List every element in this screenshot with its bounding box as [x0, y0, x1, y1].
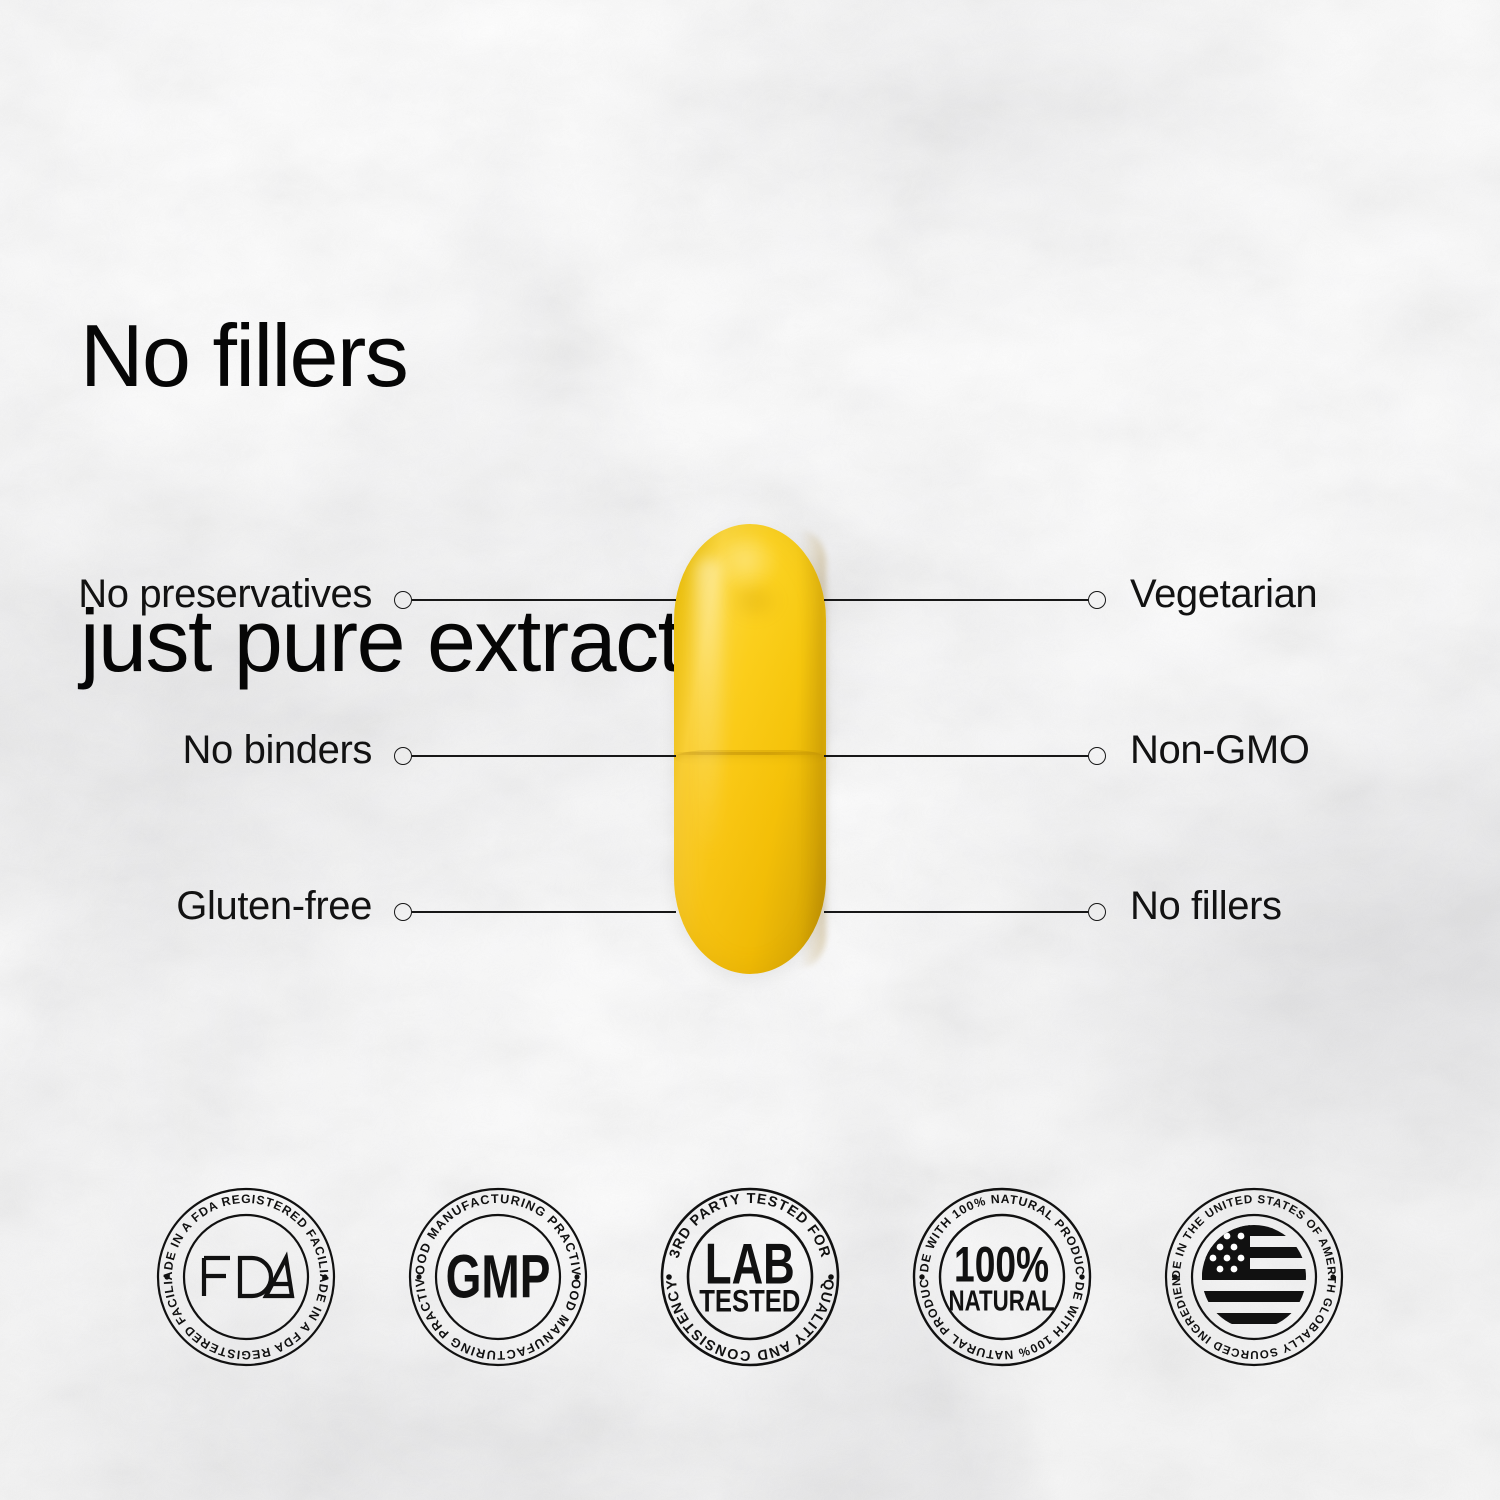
fda-logo-icon: [204, 1258, 292, 1296]
headline-line-1: No fillers: [80, 308, 723, 403]
gmp-badge: GOOD MANUFACTURING PRACTIVE GOOD MANUFAC…: [407, 1186, 589, 1368]
connector-dot-right-3: [1088, 903, 1106, 921]
capsule-right-shading: [800, 530, 826, 968]
connector-dot-left-3: [394, 903, 412, 921]
feature-label-vegetarian: Vegetarian: [1130, 572, 1317, 617]
feature-label-no-preservatives: No preservatives: [78, 572, 372, 617]
badge-center-text: 100%: [954, 1237, 1049, 1292]
connector-line-right-2: [824, 755, 1088, 757]
100-percent-natural-badge: MADE WITH 100% NATURAL PRODUCTS MADE WIT…: [911, 1186, 1093, 1368]
feature-row-2: No binders Non-GMO: [0, 755, 1500, 757]
connector-line-right-1: [824, 599, 1088, 601]
connector-dot-right-1: [1088, 591, 1106, 609]
connector-dot-right-2: [1088, 747, 1106, 765]
svg-text:MADE IN A FDA REGISTERED FACIL: MADE IN A FDA REGISTERED FACILITY: [155, 1186, 331, 1280]
badge-arc-top: MADE IN A FDA REGISTERED FACILITY: [155, 1186, 331, 1280]
badge-center-text-2: TESTED: [699, 1284, 800, 1319]
connector-dot-left-2: [394, 747, 412, 765]
usa-flag-icon: [1202, 1225, 1306, 1324]
feature-label-non-gmo: Non-GMO: [1130, 728, 1309, 773]
feature-label-no-fillers: No fillers: [1130, 884, 1282, 929]
fda-registered-facility-badge: MADE IN A FDA REGISTERED FACILITY MADE I…: [155, 1186, 337, 1368]
certification-badges: MADE IN A FDA REGISTERED FACILITY MADE I…: [0, 1178, 1500, 1388]
connector-line-left-1: [412, 599, 676, 601]
capsule-image: [674, 524, 826, 974]
feature-label-gluten-free: Gluten-free: [176, 884, 372, 929]
feature-row-1: No preservatives Vegetarian: [0, 599, 1500, 601]
connector-line-left-3: [412, 911, 676, 913]
connector-dot-left-1: [394, 591, 412, 609]
feature-label-no-binders: No binders: [183, 728, 372, 773]
feature-row-3: Gluten-free No fillers: [0, 911, 1500, 913]
badge-center-text: GMP: [446, 1243, 551, 1311]
product-infographic: No fillers just pure extracts No preserv…: [0, 0, 1500, 1500]
connector-line-right-3: [824, 911, 1088, 913]
badge-center-text-2: NATURAL: [949, 1286, 1055, 1317]
lab-tested-badge: 3RD PARTY TESTED FOR QUALITY AND CONSIST…: [659, 1186, 841, 1368]
made-in-usa-badge: MADE IN THE UNITED STATES OF AMERICA WIT…: [1163, 1186, 1345, 1368]
connector-line-left-2: [412, 755, 676, 757]
capsule-dimple-shadow: [728, 580, 782, 622]
capsule-gloss-highlight: [696, 558, 722, 858]
